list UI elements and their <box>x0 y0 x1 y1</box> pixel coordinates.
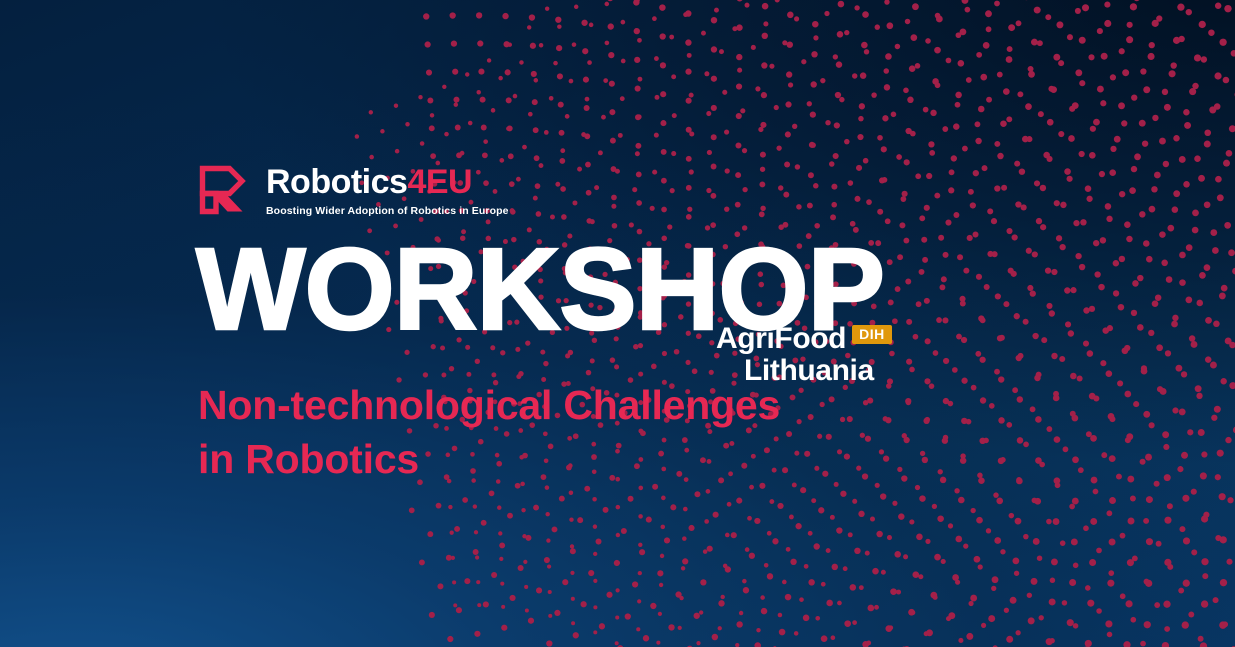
robotics-word: Robotics <box>266 163 407 201</box>
robotics4eu-wordmark: Robotics4EU Boosting Wider Adoption of R… <box>266 163 509 217</box>
subtitle-line-1: Non-technological Challenges <box>198 382 780 428</box>
poster-content: Robotics4EU Boosting Wider Adoption of R… <box>0 0 1235 647</box>
robotics4eu-tagline: Boosting Wider Adoption of Robotics in E… <box>266 205 509 217</box>
subtitle-line-2: in Robotics <box>198 432 958 486</box>
workshop-poster: Robotics4EU Boosting Wider Adoption of R… <box>0 0 1235 647</box>
4eu-word: 4EU <box>407 163 472 201</box>
robotics4eu-r-mark <box>196 162 252 218</box>
robotics4eu-logo: Robotics4EU Boosting Wider Adoption of R… <box>196 162 509 218</box>
robotics4eu-word: Robotics4EU <box>266 165 509 199</box>
page-title: WORKSHOP <box>196 234 884 345</box>
logo-row: Robotics4EU Boosting Wider Adoption of R… <box>196 162 509 222</box>
page-subtitle: Non-technological Challenges in Robotics <box>198 378 958 486</box>
